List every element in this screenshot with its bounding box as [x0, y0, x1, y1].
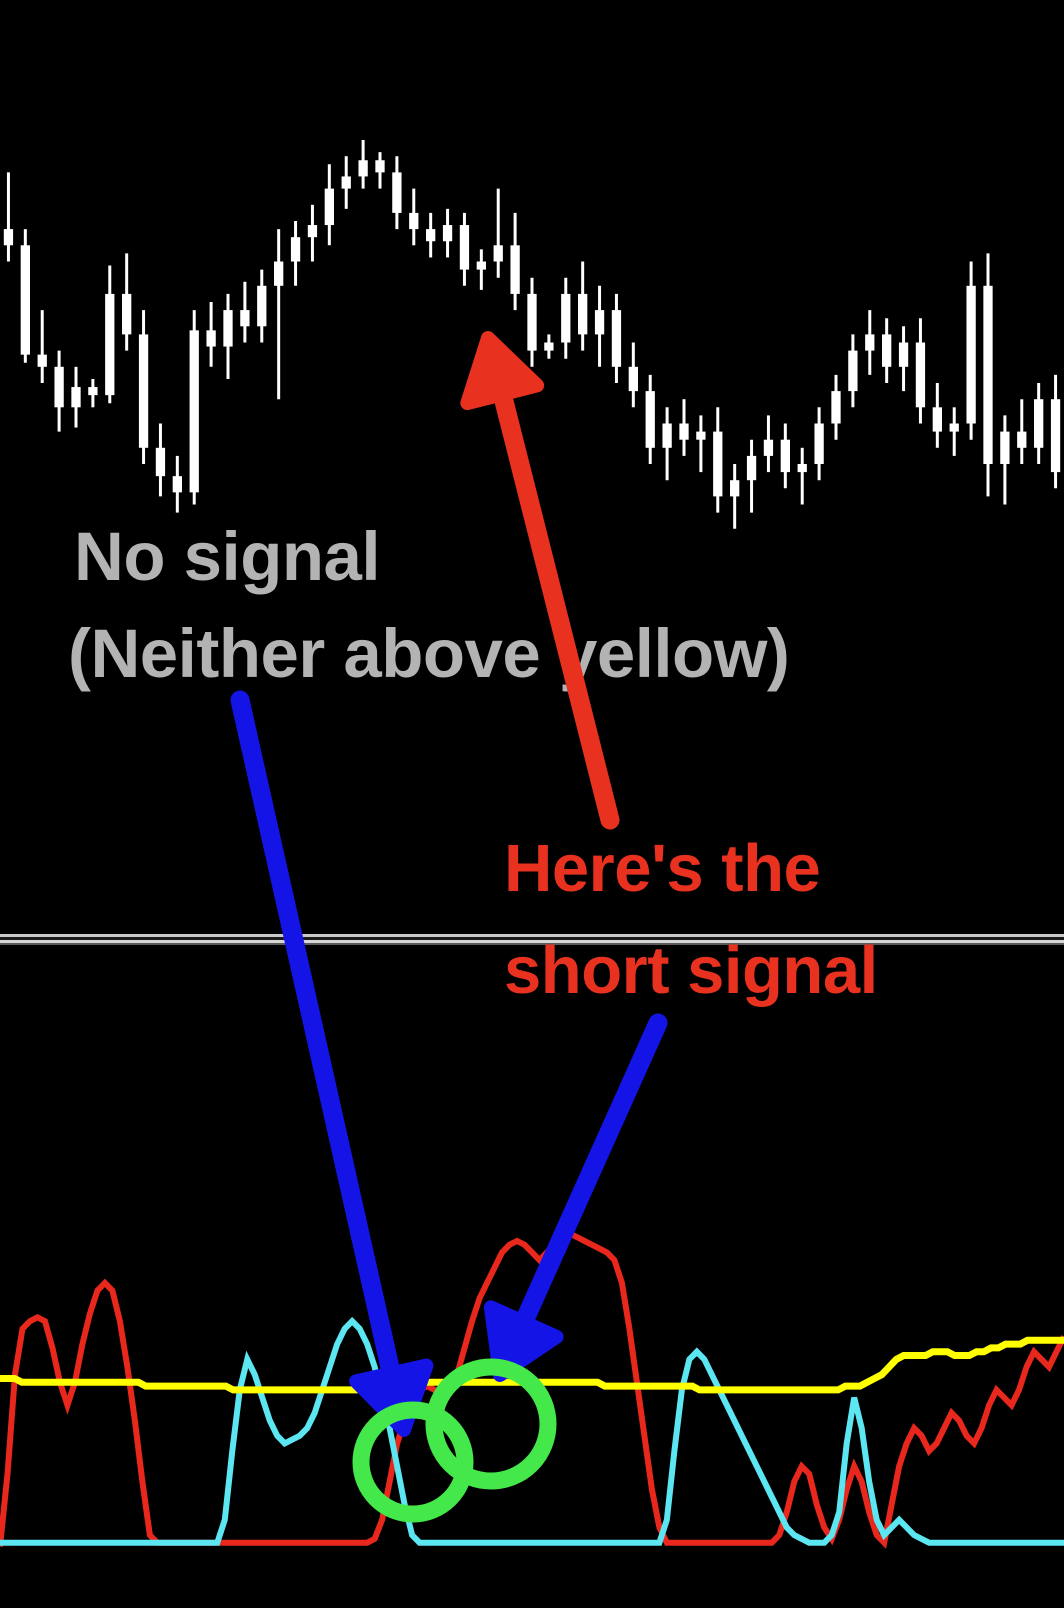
red-arrow-to-price-bar [467, 338, 610, 820]
blue-arrow-to-left-circle [240, 700, 426, 1430]
annotation-overlay [0, 0, 1064, 1608]
blue-arrow-to-right-circle [491, 1023, 658, 1375]
chart-screenshot: No signal (Neither above yellow) Here's … [0, 0, 1064, 1608]
